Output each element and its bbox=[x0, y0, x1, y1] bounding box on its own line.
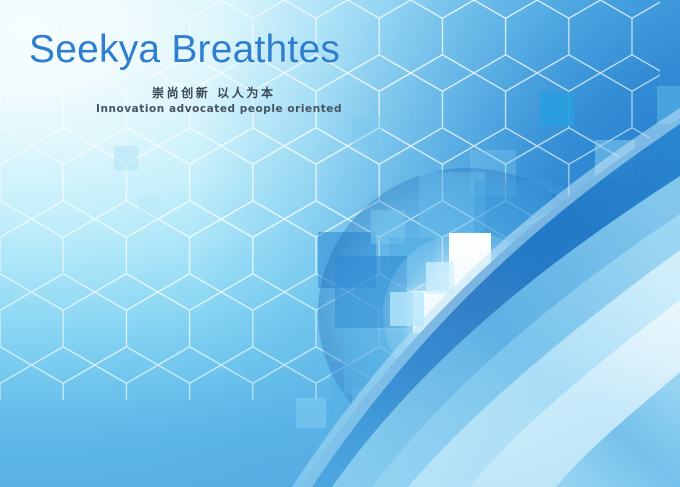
tagline-english: Innovation advocated people oriented bbox=[96, 103, 342, 115]
tagline-chinese: 崇尚创新 以人为本 bbox=[152, 84, 276, 101]
background-bottom-tint bbox=[0, 0, 680, 487]
page-title: Seekya Breathtes bbox=[29, 28, 340, 72]
poster-canvas: Seekya Breathtes 崇尚创新 以人为本 Innovation ad… bbox=[0, 0, 680, 487]
